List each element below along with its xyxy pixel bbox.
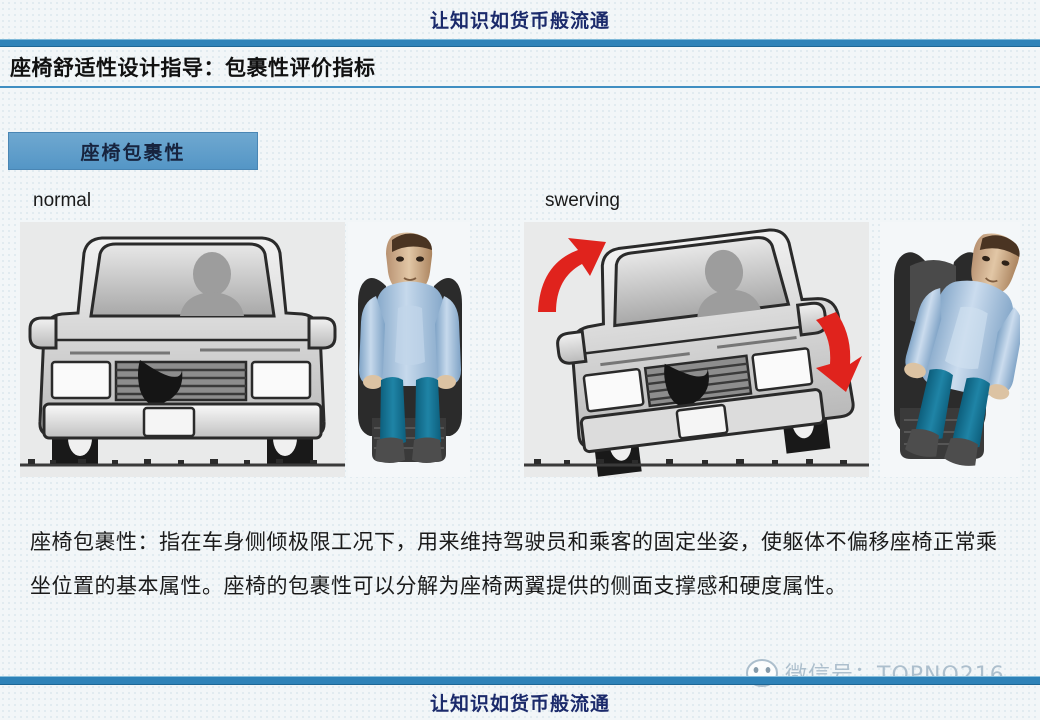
car-front-tilted-illustration <box>524 222 869 477</box>
top-banner-text: 让知识如货币般流通 <box>430 6 610 33</box>
page-title: 座椅舒适性设计指导：包裹性评价指标 <box>10 50 990 84</box>
car-front-upright-illustration <box>20 222 345 477</box>
slide-canvas: 让知识如货币般流通 座椅舒适性设计指导：包裹性评价指标 座椅包裹性 normal… <box>0 0 1040 720</box>
scenario-label-normal: normal <box>33 190 91 212</box>
section-heading-label: 座椅包裹性 <box>80 138 185 165</box>
body-paragraph: 座椅包裹性：指在车身侧倾极限工况下，用来维持驾驶员和乘客的固定坐姿，使躯体不偏移… <box>30 520 1015 608</box>
section-heading-chip: 座椅包裹性 <box>8 132 258 170</box>
seated-manikin-upright <box>348 222 470 477</box>
seated-manikin-leaning <box>880 222 1020 477</box>
title-underline-rule <box>0 86 1040 88</box>
top-banner: 让知识如货币般流通 <box>0 0 1040 38</box>
scenario-label-swerving: swerving <box>545 190 620 212</box>
page-title-text: 座椅舒适性设计指导：包裹性评价指标 <box>10 52 376 82</box>
footer-divider-rule <box>0 676 1040 685</box>
header-divider-rule <box>0 39 1040 47</box>
bottom-banner: 让知识如货币般流通 <box>0 686 1040 718</box>
bottom-banner-text: 让知识如货币般流通 <box>430 689 610 716</box>
